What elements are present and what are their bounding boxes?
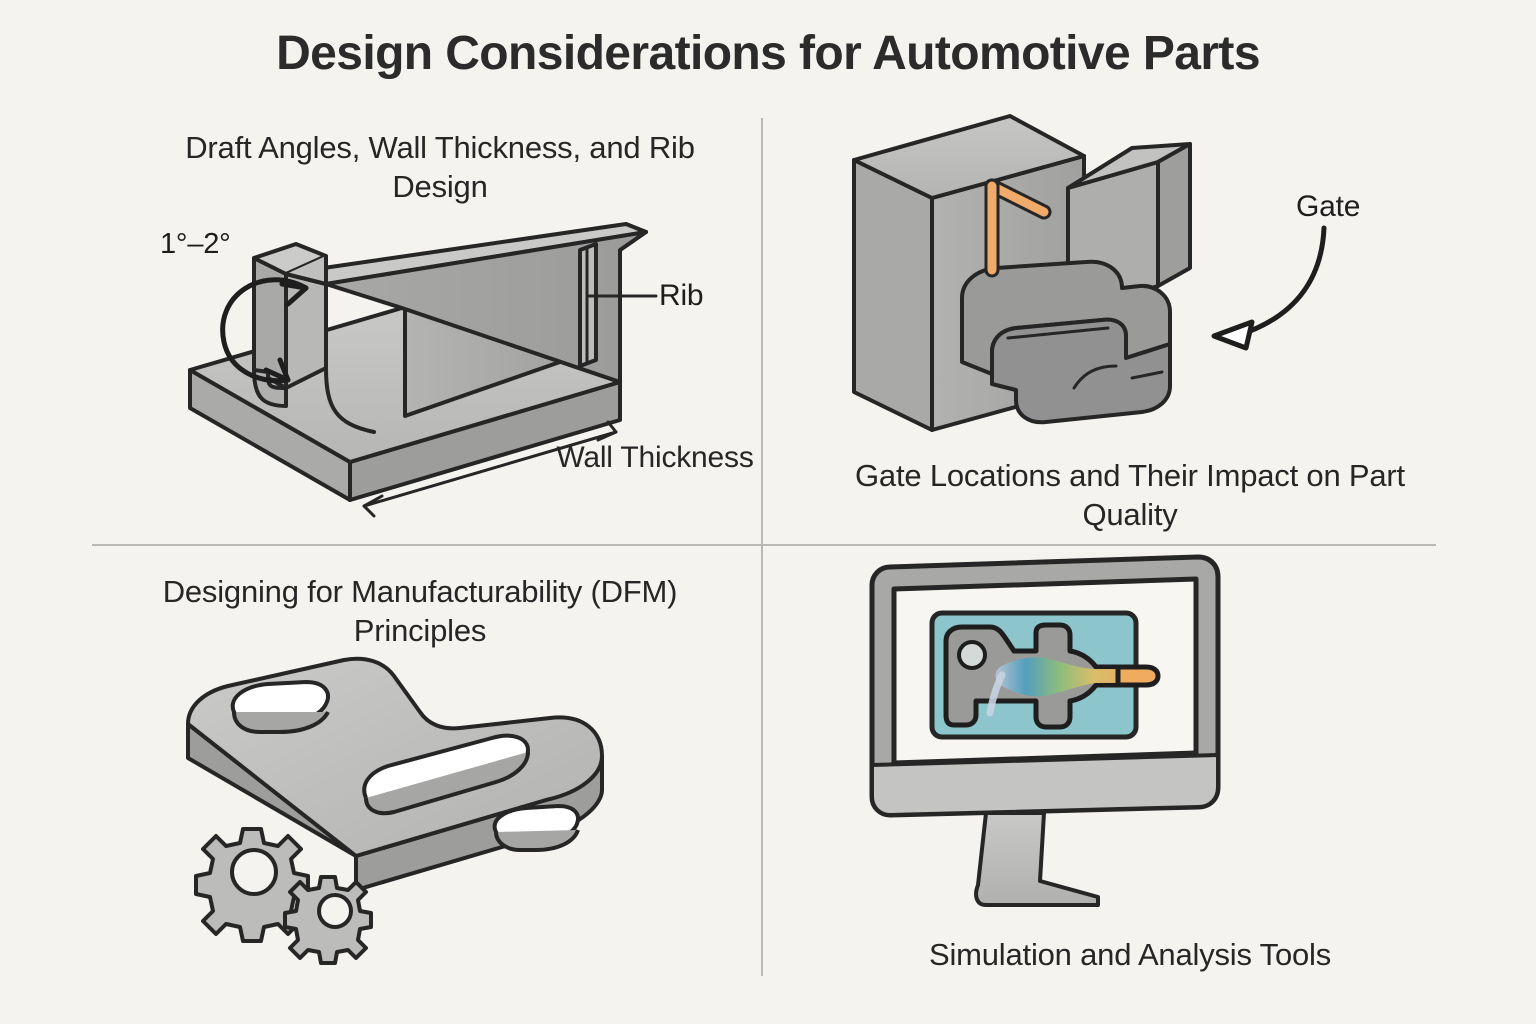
illustration-dfm-bracket-plate [170,650,670,940]
vertical-divider [761,118,763,976]
plate-slot-lower-right-depth [496,830,578,850]
mold-block-left-face [854,160,932,430]
horizontal-divider [92,544,1436,546]
simulation-gate-nub [1118,667,1158,685]
gate-callout-arrow [1180,222,1360,372]
monitor-stand [976,813,1098,905]
panel-caption-dfm: Designing for Manufacturability (DFM) Pr… [110,572,730,650]
panel-caption-draft-angles: Draft Angles, Wall Thickness, and Rib De… [150,128,730,206]
gear-small-icon [285,877,371,963]
draft-angle-arrow [196,258,376,398]
simulation-part-hole [959,642,985,668]
rib-leader-line [586,286,666,306]
infographic-canvas: Design Considerations for Automotive Par… [0,0,1536,1024]
page-title: Design Considerations for Automotive Par… [0,26,1536,81]
panel-caption-gate-locations: Gate Locations and Their Impact on Part … [810,456,1450,534]
panel-caption-simulation: Simulation and Analysis Tools [820,935,1440,974]
illustration-simulation-monitor [850,555,1250,925]
